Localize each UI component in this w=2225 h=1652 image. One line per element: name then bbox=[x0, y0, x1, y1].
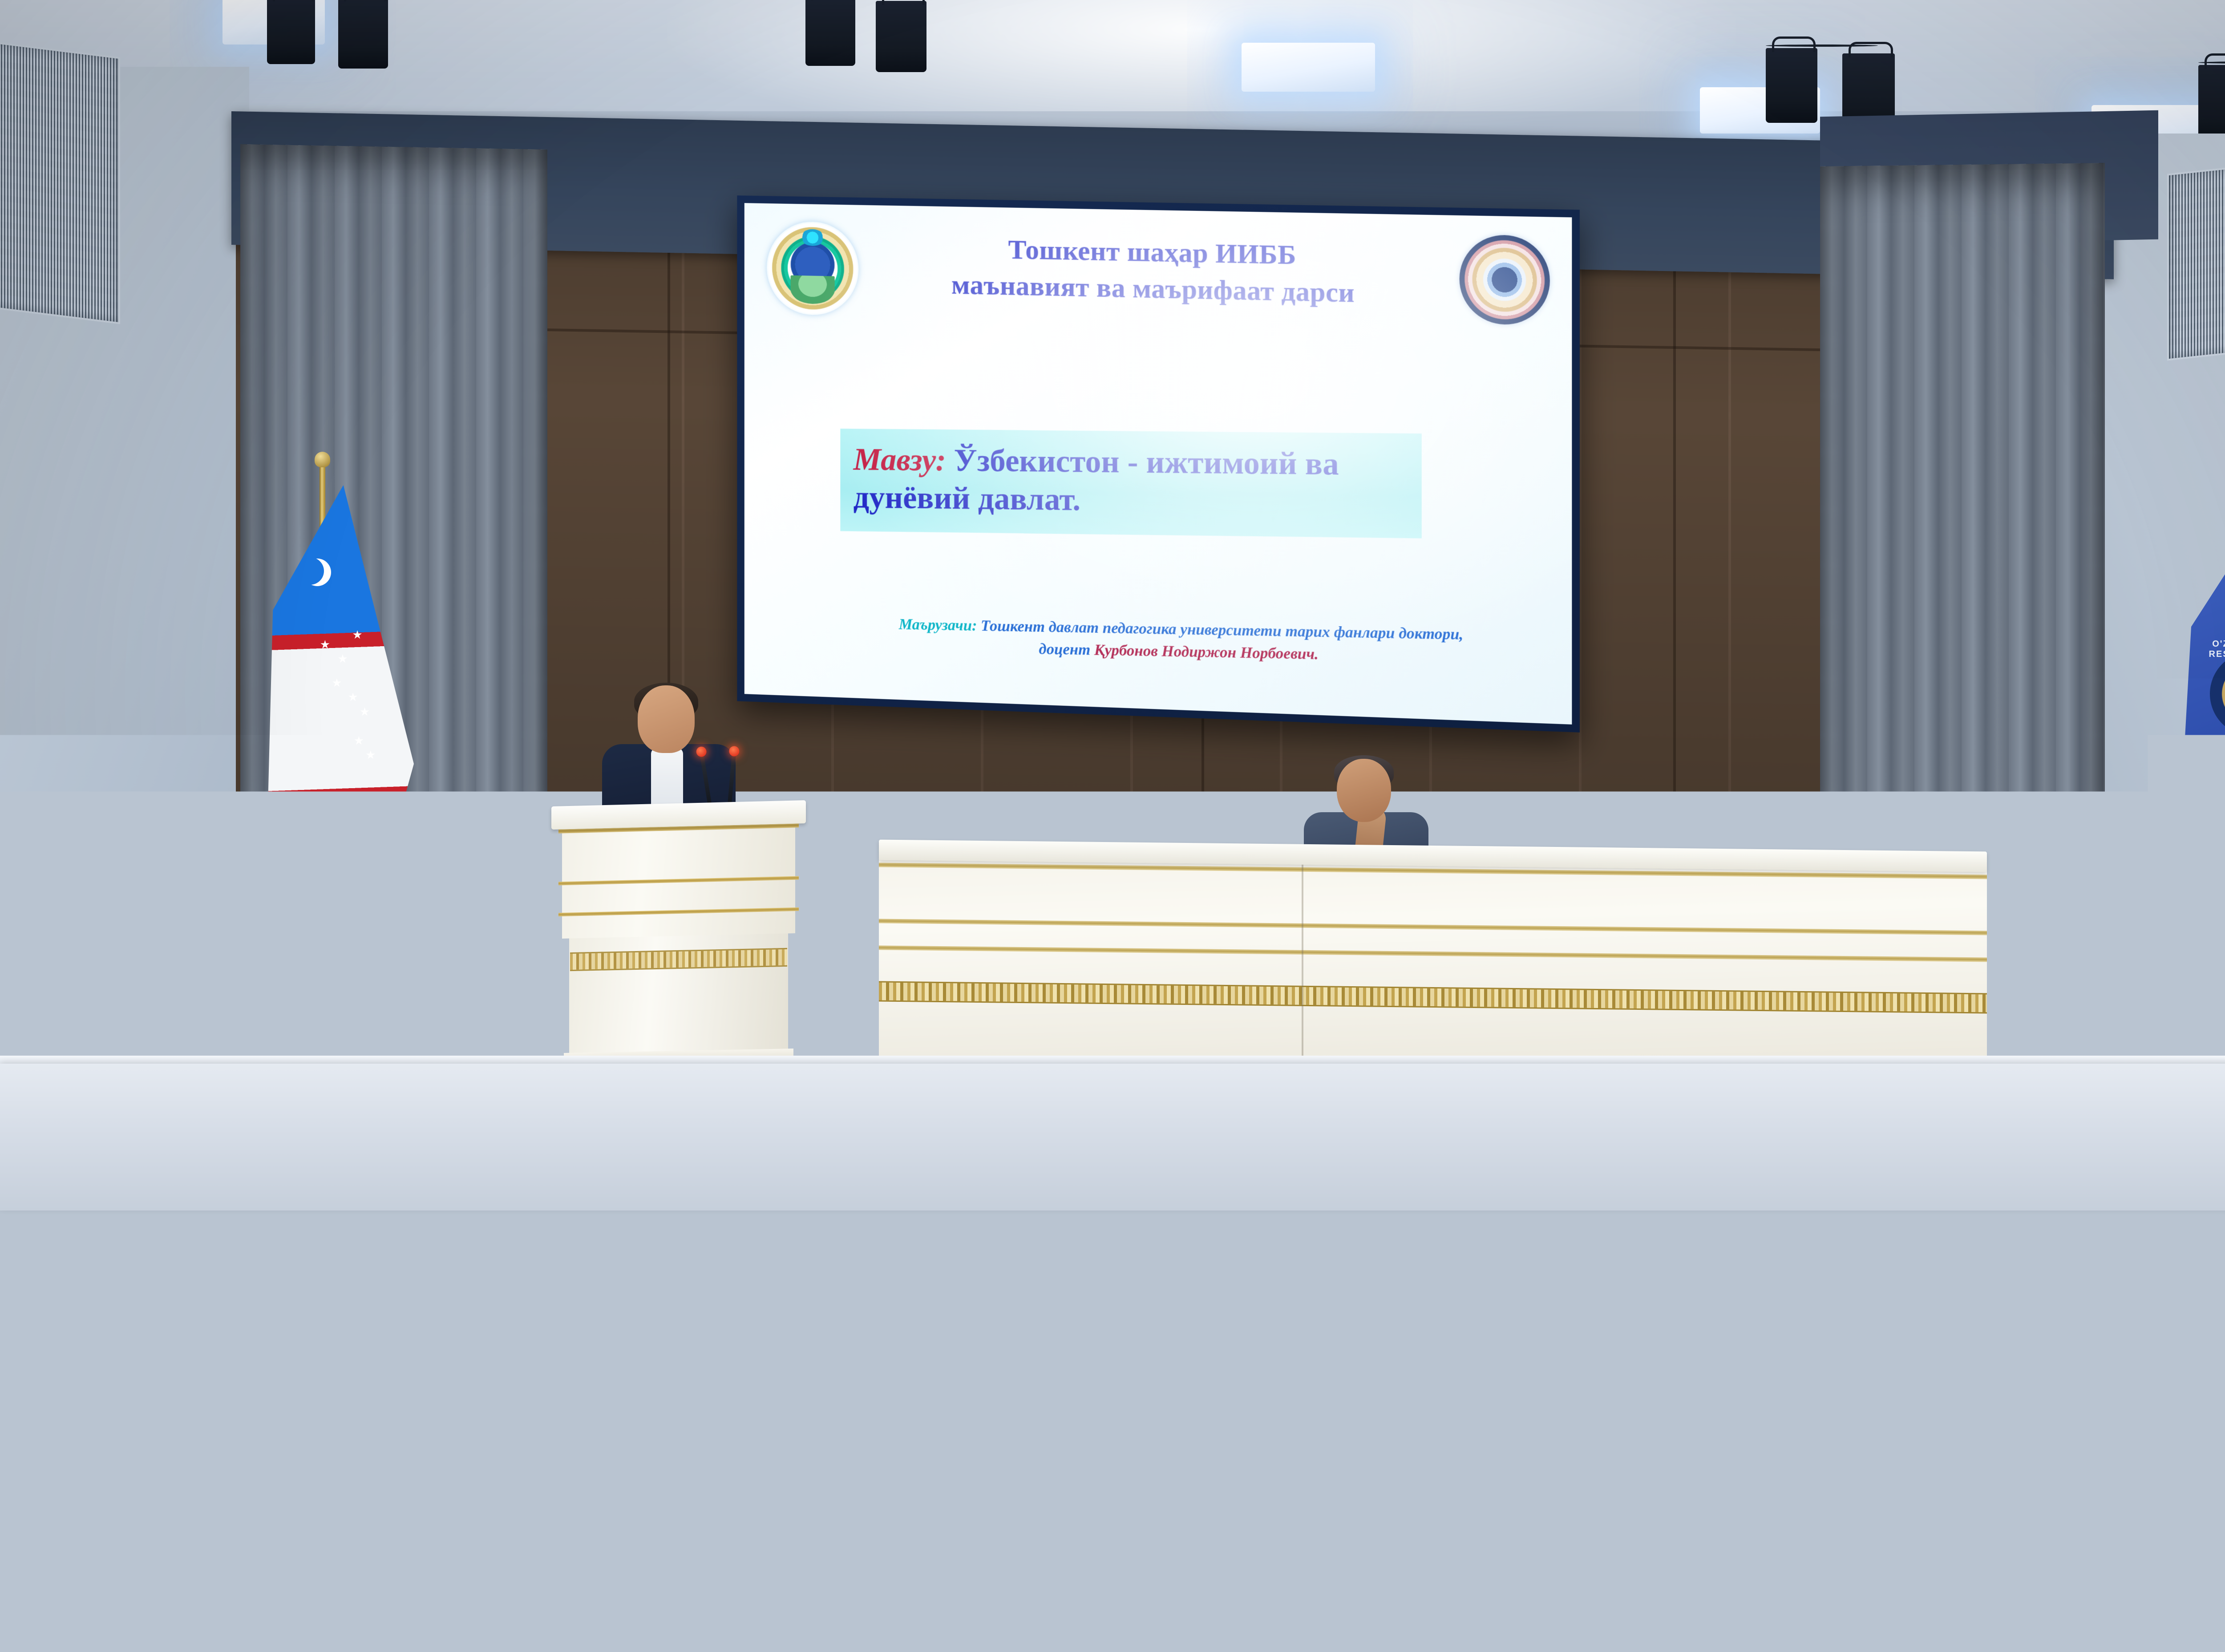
attendee-uniform bbox=[1748, 1486, 1861, 1564]
attendee-head bbox=[2012, 1195, 2060, 1253]
attendee-head bbox=[1459, 1231, 1509, 1291]
attendee-head bbox=[558, 1619, 639, 1652]
shoulder-patch-icon bbox=[2194, 1510, 2213, 1530]
attendee-head bbox=[850, 1306, 904, 1374]
attendee-head bbox=[1045, 1226, 1095, 1287]
stage-spotlight bbox=[338, 0, 388, 69]
attendee-head bbox=[1841, 1234, 1893, 1296]
attendee bbox=[178, 1302, 267, 1417]
attendee-head bbox=[51, 1613, 132, 1652]
attendee-head bbox=[489, 1304, 543, 1371]
slide-header: Тошкент шаҳар ИИББ маънавият ва маърифаа… bbox=[744, 227, 1572, 316]
attendee-head bbox=[1773, 1417, 1836, 1494]
epaulette-icon bbox=[53, 1482, 80, 1490]
ministry-seal-icon bbox=[2210, 652, 2225, 736]
attendee-uniform bbox=[1440, 1285, 1529, 1343]
attendee bbox=[89, 1217, 174, 1320]
ministry-flag-text-bottom: ICHKI ISHLAR VAZIRLIGI bbox=[2180, 759, 2225, 769]
flag-star: ★ bbox=[360, 706, 370, 718]
attendee-head bbox=[1983, 1314, 2039, 1384]
slide-topic-label: Мавзу: bbox=[854, 441, 946, 478]
seated-official-head bbox=[1337, 759, 1391, 822]
attendee-uniform bbox=[87, 1271, 176, 1329]
shoulder-patch-icon bbox=[1824, 1310, 1844, 1329]
epaulette-icon bbox=[138, 1482, 165, 1490]
attendee bbox=[614, 1222, 699, 1324]
attendee-head bbox=[1884, 1520, 1956, 1609]
attendee-head bbox=[1228, 1309, 1282, 1377]
stage-spotlight bbox=[1766, 48, 1817, 123]
attendee-head bbox=[106, 1217, 156, 1278]
attendee-head bbox=[2194, 1190, 2225, 1250]
attendee-head bbox=[1115, 1222, 1159, 1275]
attendee-head bbox=[829, 1219, 875, 1273]
shoulder-patch-icon bbox=[1963, 1397, 1983, 1417]
slide-presenter-line: Маърузачи: Тошкент давлат педагогика уни… bbox=[887, 613, 1476, 668]
attendee-head bbox=[2083, 1637, 2166, 1652]
attendee bbox=[1210, 1309, 1299, 1429]
attendee-head bbox=[173, 1204, 219, 1260]
attendee bbox=[1544, 1631, 1682, 1652]
stage-spotlight bbox=[2198, 65, 2225, 142]
flag-crescent-icon bbox=[296, 557, 324, 585]
speaker-head bbox=[638, 685, 695, 753]
attendee bbox=[22, 1613, 160, 1652]
presidium-panel-seam bbox=[1302, 864, 1303, 1065]
attendee-head bbox=[631, 1222, 681, 1282]
ceiling-light bbox=[1242, 43, 1375, 92]
attendee bbox=[1824, 1234, 1909, 1341]
presidium-table bbox=[879, 846, 1987, 1066]
attendee-head bbox=[484, 1407, 544, 1482]
auditorium-photo: Тошкент шаҳар ИИББ маънавият ва маърифаа… bbox=[0, 0, 2225, 1652]
attendee-head bbox=[438, 1213, 483, 1266]
attendee-head bbox=[61, 1502, 131, 1589]
ventilation-grille bbox=[0, 41, 120, 324]
attendee-uniform bbox=[1206, 1369, 1304, 1435]
attendee bbox=[2194, 1421, 2225, 1559]
projection-screen-frame: Тошкент шаҳар ИИББ маънавият ва маърифаа… bbox=[737, 195, 1580, 733]
epaulette-icon bbox=[483, 1597, 510, 1605]
attendee bbox=[2056, 1637, 2194, 1652]
attendee bbox=[1397, 1515, 1517, 1652]
attendee bbox=[1442, 1231, 1526, 1333]
slide-presenter-label: Маърузачи: bbox=[899, 615, 977, 634]
flag-star: ★ bbox=[337, 653, 348, 665]
attendee-head bbox=[1422, 1515, 1493, 1603]
attendee-head bbox=[510, 1506, 580, 1594]
attendee bbox=[530, 1619, 667, 1652]
attendee bbox=[1028, 1226, 1112, 1328]
flag-star: ★ bbox=[352, 629, 362, 641]
attendee-head bbox=[196, 1302, 249, 1369]
stage-spotlight bbox=[267, 0, 315, 64]
attendee bbox=[1967, 1314, 2056, 1439]
epaulette-icon bbox=[584, 1597, 611, 1605]
slide-presenter-name: Қурбонов Нодиржон Норбоевич. bbox=[1094, 641, 1319, 663]
attendee bbox=[1584, 1312, 1673, 1432]
auditorium-seat bbox=[174, 1568, 374, 1652]
attendee-head bbox=[1602, 1312, 1656, 1379]
stage-spotlight bbox=[876, 1, 926, 72]
attendee-head bbox=[902, 1410, 963, 1485]
epaulette-icon bbox=[172, 1370, 198, 1378]
presenting-speaker bbox=[599, 685, 745, 819]
flag-star: ★ bbox=[365, 749, 376, 761]
attendee bbox=[814, 1219, 890, 1304]
attendee-head bbox=[959, 1511, 1030, 1598]
flag-star: ★ bbox=[332, 677, 342, 689]
attendee-uniform bbox=[612, 1276, 701, 1334]
flag-star: ★ bbox=[354, 735, 364, 747]
flag-star: ★ bbox=[320, 639, 330, 651]
audience-area bbox=[0, 1093, 2225, 1652]
attendee bbox=[1753, 1417, 1856, 1555]
attendee-head bbox=[2214, 1421, 2225, 1498]
flag-star: ★ bbox=[348, 692, 358, 703]
attendee-head bbox=[79, 1404, 139, 1479]
audience-back-wall bbox=[0, 1093, 2225, 1239]
presidium-body bbox=[879, 858, 1987, 1072]
attendee-head bbox=[1572, 1631, 1655, 1652]
attendee bbox=[832, 1306, 921, 1426]
ventilation-grille bbox=[2167, 164, 2225, 360]
slide-topic-band: Мавзу: Ўзбекистон - ижтимоий ва дунёвий … bbox=[840, 429, 1421, 538]
attendee bbox=[1037, 1625, 1175, 1652]
speaker-podium bbox=[558, 803, 799, 1066]
attendee-uniform bbox=[1580, 1371, 1678, 1438]
projection-screen: Тошкент шаҳар ИИББ маънавият ва маърифаа… bbox=[744, 203, 1572, 725]
epaulette-icon bbox=[248, 1370, 275, 1378]
attendee-official bbox=[2176, 1190, 2225, 1293]
attendee-head bbox=[1065, 1625, 1146, 1652]
attendee-head bbox=[1338, 1414, 1399, 1489]
slide-topic: Мавзу: Ўзбекистон - ижтимоий ва дунёвий … bbox=[854, 440, 1408, 523]
attendee bbox=[1860, 1520, 1980, 1652]
attendee-uniform bbox=[1026, 1280, 1115, 1338]
stage-spotlight bbox=[805, 0, 855, 66]
